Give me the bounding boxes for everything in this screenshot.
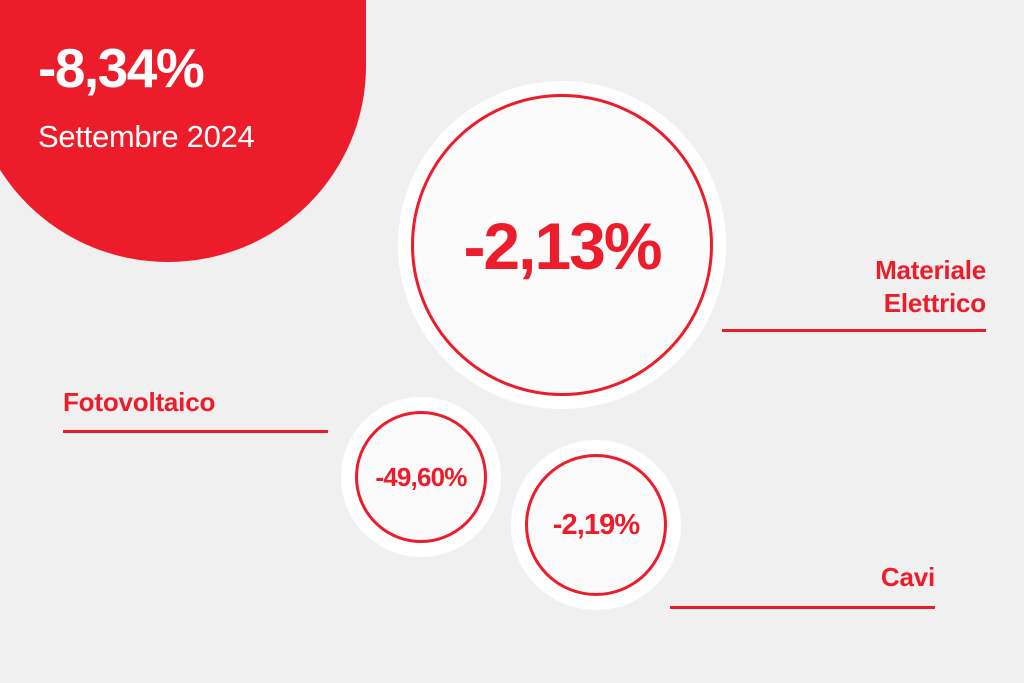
category-label-cavi: Cavi: [670, 561, 935, 609]
headline-block: -8,34% Settembre 2024: [38, 40, 358, 154]
category-label-materiale-elettrico-text: Materiale Elettrico: [722, 254, 986, 321]
bubble-cavi[interactable]: -2,19%: [525, 454, 667, 596]
category-label-fotovoltaico-text: Fotovoltaico: [63, 386, 328, 419]
category-label-materiale-elettrico: Materiale Elettrico: [722, 254, 986, 332]
bubble-fotovoltaico[interactable]: -49,60%: [355, 411, 487, 543]
category-rule-cavi: [670, 606, 935, 609]
bubble-value-fotovoltaico: -49,60%: [375, 462, 466, 493]
bubble-value-materiale-elettrico: -2,13%: [463, 208, 660, 284]
category-rule-materiale-elettrico: [722, 329, 986, 332]
category-rule-fotovoltaico: [63, 430, 328, 433]
category-label-cavi-text: Cavi: [670, 561, 935, 594]
headline-period: Settembre 2024: [38, 120, 358, 154]
bubble-materiale-elettrico[interactable]: -2,13%: [411, 94, 713, 396]
infographic-canvas: -8,34% Settembre 2024 -2,13% -49,60% -2,…: [0, 0, 1024, 683]
category-label-fotovoltaico: Fotovoltaico: [63, 386, 328, 433]
bubble-value-cavi: -2,19%: [553, 509, 640, 542]
headline-value: -8,34%: [38, 40, 358, 98]
